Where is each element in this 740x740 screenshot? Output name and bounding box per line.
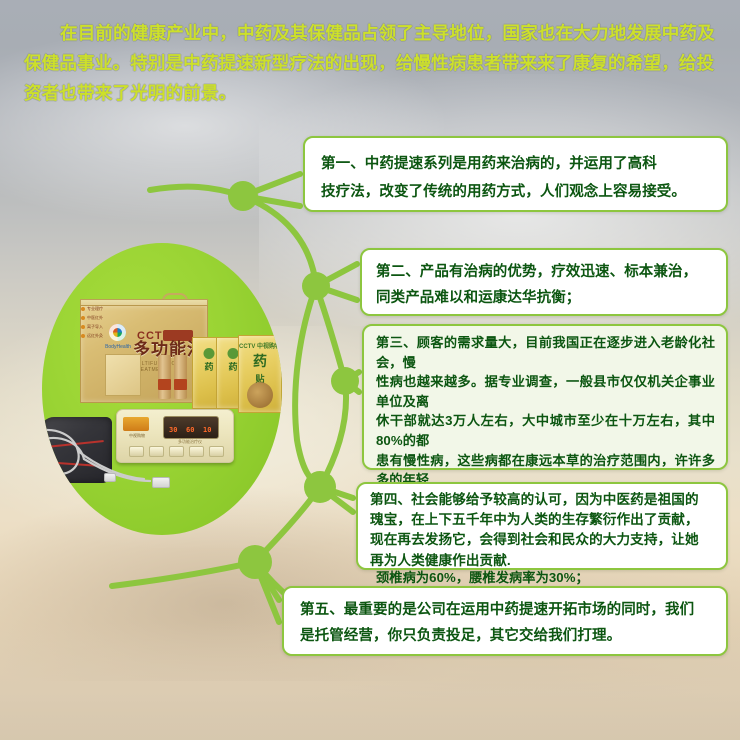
device-button	[209, 446, 224, 457]
vial-right	[174, 355, 187, 399]
bullet-label: 远红外灸	[87, 333, 103, 338]
spec-card	[105, 354, 141, 396]
page-title-paragraph: 在目前的健康产业中，中药及其保健品占领了主导地位，国家也在大力地发展中药及保健品…	[24, 18, 724, 108]
bullet-label: 专业理疗	[87, 306, 103, 311]
node-4	[304, 471, 336, 503]
brand-name-en: BodyHealth	[105, 343, 131, 351]
callout-3-line: 颈椎病为60%，腰椎发病率为30%；	[376, 568, 715, 588]
callout-box-4: 第四、社会能够给予较高的认可，因为中医药是祖国的 瑰宝，在上下五千年中为人类的生…	[356, 482, 728, 570]
callout-4-line: 现在再去发扬它，会得到社会和民众的大力支持，让她	[370, 530, 715, 550]
connector-segment-2-3	[316, 286, 345, 381]
pouch-seal-icon	[204, 348, 215, 359]
callout-box-3: 第三、顾客的需求量大，目前我国正在逐步进入老龄化社会，慢 性病也越来越多。据专业…	[362, 324, 728, 470]
product-carton: BodyHealth CCTV 多功能治 MULTIFUNCTIONAL TRE…	[80, 305, 208, 403]
callout-5-line: 是托管经营，你只负责投足，其它交给我们打理。	[300, 623, 713, 649]
pouch-big-char: 药	[239, 356, 281, 367]
connector-tail-lower-left	[112, 562, 255, 586]
product-photo: BodyHealth CCTV 多功能治 MULTIFUNCTIONAL TRE…	[58, 305, 272, 483]
screen-value-3: 10	[203, 426, 211, 434]
callout-4-line: 第四、社会能够给予较高的认可，因为中医药是祖国的	[370, 490, 715, 510]
device-button	[189, 446, 204, 457]
callout-1-line: 技疗法，改变了传统的用药方式，人们观念上容易接受。	[321, 178, 712, 206]
callout-4-line: 瑰宝，在上下五千年中为人类的生存繁衍作出了贡献，	[370, 510, 715, 530]
carton-bullet-list: 专业理疗 中医红外 离子导入 远红外灸	[81, 306, 115, 340]
pouch-3-large: CCTV 中视购物 药 贴	[238, 335, 282, 413]
callout-5-text: 第五、最重要的是公司在运用中药提速开拓市场的同时，我们 是托管经营，你只负责投足…	[284, 588, 726, 649]
callout-1-text: 第一、中药提速系列是用药来治病的，并运用了高科 技疗法，改变了传统的用药方式，人…	[305, 138, 726, 206]
node-3	[331, 367, 359, 395]
vial-left	[158, 355, 171, 399]
electrode-connector	[104, 473, 116, 482]
bullet-label: 离子导入	[87, 324, 103, 329]
callout-box-1: 第一、中药提速系列是用药来治病的，并运用了高科 技疗法，改变了传统的用药方式，人…	[303, 136, 728, 212]
connector-segment-1-2	[243, 196, 316, 286]
herb-illustration	[247, 382, 273, 408]
callout-2-text: 第二、产品有治病的优势，疗效迅速、标本兼治， 同类产品难以和运康达华抗衡；	[362, 250, 726, 311]
node-5	[238, 545, 272, 579]
callout-box-2: 第二、产品有治病的优势，疗效迅速、标本兼治， 同类产品难以和运康达华抗衡；	[360, 248, 728, 316]
infographic-canvas: BodyHealth CCTV 多功能治 MULTIFUNCTIONAL TRE…	[0, 0, 740, 740]
connector-arc-left	[295, 286, 320, 487]
screen-value-2: 60	[186, 426, 194, 434]
callout-3-line: 第三、顾客的需求量大，目前我国正在逐步进入老龄化社会，慢	[376, 333, 715, 372]
callout-4-line: 再为人类健康作出贡献.	[370, 551, 715, 571]
callout-2-line: 同类产品难以和运康达华抗衡；	[376, 285, 714, 311]
callout-1-line: 第一、中药提速系列是用药来治病的，并运用了高科	[321, 150, 712, 178]
callout-2-line: 第二、产品有治病的优势，疗效迅速、标本兼治，	[376, 259, 714, 285]
callout-3-line: 休干部就达3万人左右，大中城市至少在十万左右，其中80%的都	[376, 411, 715, 450]
callout-5-line: 第五、最重要的是公司在运用中药提速开拓市场的同时，我们	[300, 597, 713, 623]
callout-3-line: 性病也越来越多。据专业调查，一般县市仅仅机关企事业单位及离	[376, 372, 715, 411]
pouch-seal-icon	[228, 348, 239, 359]
callout-4-text: 第四、社会能够给予较高的认可，因为中医药是祖国的 瑰宝，在上下五千年中为人类的生…	[358, 484, 726, 571]
node-2	[302, 272, 330, 300]
bullet-label: 中医红外	[87, 315, 103, 320]
callout-box-5: 第五、最重要的是公司在运用中药提速开拓市场的同时，我们 是托管经营，你只负责投足…	[282, 586, 728, 656]
pouch-brand-label: CCTV 中视购物	[239, 342, 281, 353]
electrode-pad	[152, 477, 170, 488]
node-1	[228, 181, 258, 211]
connector-segment-3-4	[320, 381, 346, 487]
product-image-circle: BodyHealth CCTV 多功能治 MULTIFUNCTIONAL TRE…	[42, 243, 282, 535]
